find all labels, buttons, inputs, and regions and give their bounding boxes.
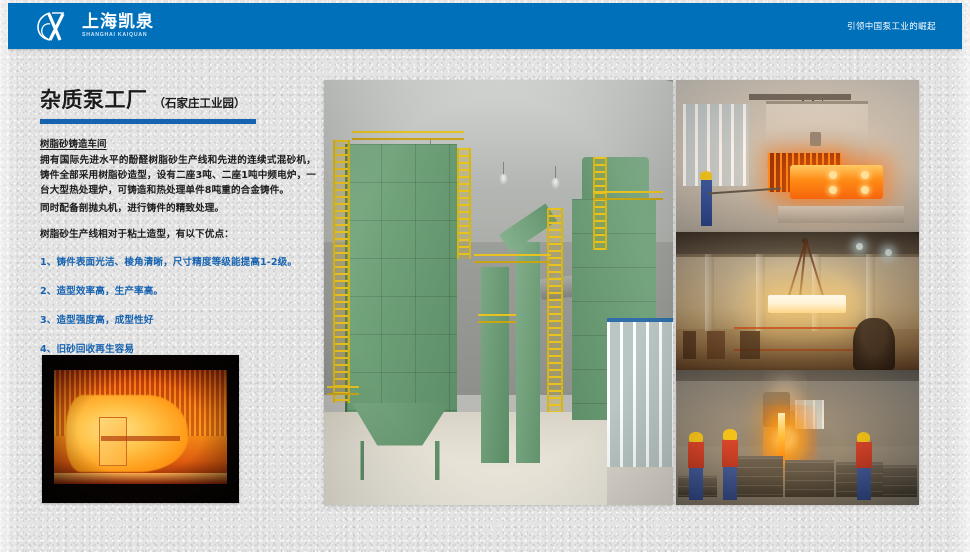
list-item: 3、造型强度高，成型性好 bbox=[40, 314, 316, 328]
crane-vignette bbox=[676, 232, 919, 370]
kaiquan-logo-mark-icon bbox=[36, 10, 76, 42]
logo-text-cn: 上海凯泉 bbox=[82, 14, 154, 31]
header-tagline: 引领中国泵工业的崛起 bbox=[847, 3, 936, 49]
body-paragraph-3: 树脂砂生产线相对于粘土造型，有以下优点： bbox=[40, 227, 316, 242]
slide-canvas: 上海凯泉 SHANGHAI KAIQUAN 引领中国泵工业的崛起 杂质泵工厂 （… bbox=[0, 0, 970, 552]
heat-treatment-photo bbox=[676, 80, 919, 232]
hall-vignette bbox=[324, 80, 673, 505]
foundry-hall-photo bbox=[324, 80, 673, 505]
furnace-interior-photo bbox=[42, 355, 239, 503]
list-item: 1、铸件表面光洁、棱角清晰，尺寸精度等级能提高1-2级。 bbox=[40, 256, 316, 270]
company-logo[interactable]: 上海凯泉 SHANGHAI KAIQUAN bbox=[36, 9, 154, 43]
title-main: 杂质泵工厂 bbox=[40, 84, 148, 114]
section-heading: 树脂砂铸造车间 bbox=[40, 136, 316, 150]
pour-vignette bbox=[676, 370, 919, 505]
metal-pouring-photo bbox=[676, 370, 919, 505]
header-shadow bbox=[8, 49, 962, 52]
content-column: 杂质泵工厂 （石家庄工业园） 树脂砂铸造车间 拥有国际先进水平的酚醛树脂砂生产线… bbox=[40, 84, 316, 372]
crane-lift-photo bbox=[676, 232, 919, 370]
furnace-vignette bbox=[42, 355, 239, 503]
title-subtitle: （石家庄工业园） bbox=[154, 95, 246, 111]
advantages-list: 1、铸件表面光洁、棱角清晰，尺寸精度等级能提高1-2级。 2、造型效率高，生产率… bbox=[40, 256, 316, 357]
page-title: 杂质泵工厂 （石家庄工业园） bbox=[40, 84, 316, 114]
page-header: 上海凯泉 SHANGHAI KAIQUAN 引领中国泵工业的崛起 bbox=[8, 3, 962, 49]
heat-vignette bbox=[676, 80, 919, 232]
list-item: 2、造型效率高，生产率高。 bbox=[40, 285, 316, 299]
title-underline-rule bbox=[40, 119, 256, 124]
body-paragraph-2: 同时配备剖抛丸机，进行铸件的精致处理。 bbox=[40, 201, 316, 216]
logo-text-en: SHANGHAI KAIQUAN bbox=[82, 33, 154, 38]
body-paragraph-1: 拥有国际先进水平的酚醛树脂砂生产线和先进的连续式混砂机，铸件全部采用树脂砂造型，… bbox=[40, 153, 316, 198]
